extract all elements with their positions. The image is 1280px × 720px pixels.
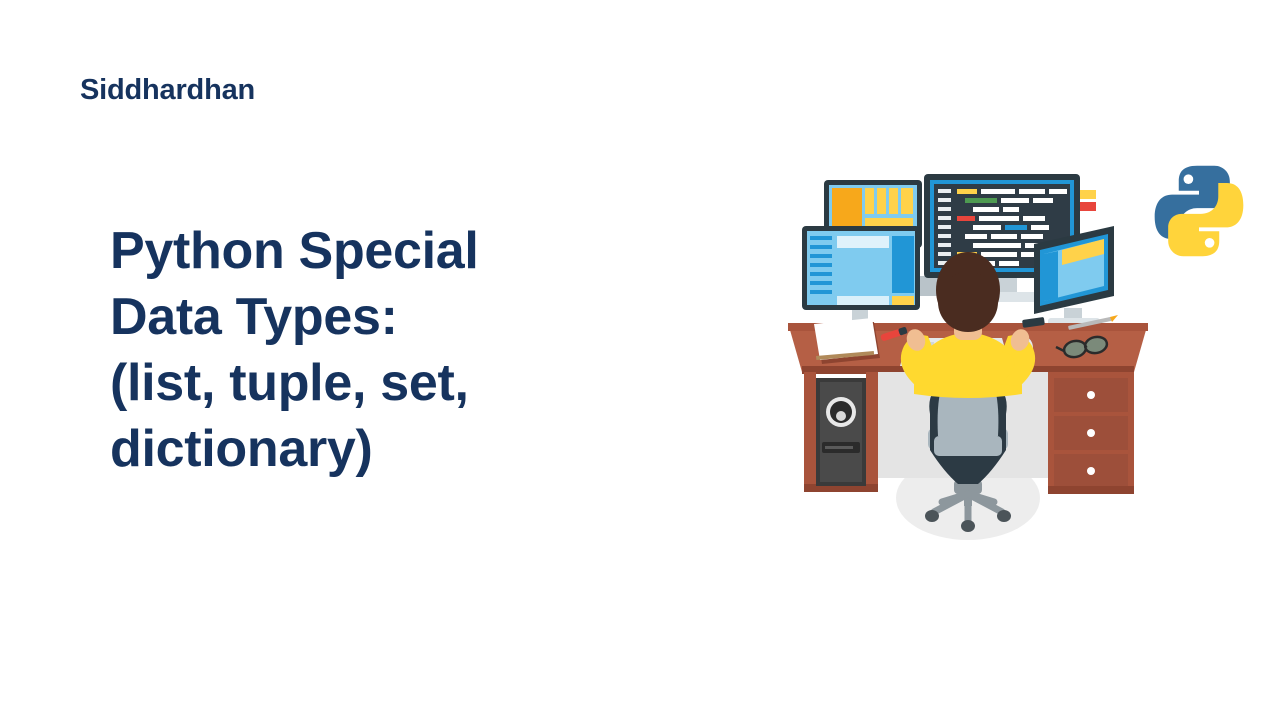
page-title: Python Special Data Types: (list, tuple,… <box>110 218 630 482</box>
monitor-right <box>1034 226 1114 329</box>
python-logo-bottom-dot <box>1205 238 1215 248</box>
developer-workstation-illustration <box>782 150 1154 550</box>
drawer-knob <box>1087 429 1095 437</box>
python-logo <box>1146 158 1252 264</box>
drawer-cabinet <box>1048 372 1134 494</box>
page-title-line-2: Data Types: <box>110 284 630 350</box>
drawer-knob <box>1087 467 1095 475</box>
page-title-line-3: (list, tuple, set, <box>110 350 630 416</box>
slide-root: Siddhardhan Python Special Data Types: (… <box>0 0 1280 720</box>
page-title-line-1: Python Special <box>110 218 630 284</box>
page-title-line-4: dictionary) <box>110 416 630 482</box>
paper-sheet <box>814 318 880 364</box>
author-name: Siddhardhan <box>80 76 255 105</box>
drawer-knob <box>1087 391 1095 399</box>
python-logo-top-dot <box>1184 174 1194 184</box>
pc-tower <box>816 378 866 486</box>
sticky-notes <box>1080 190 1096 211</box>
